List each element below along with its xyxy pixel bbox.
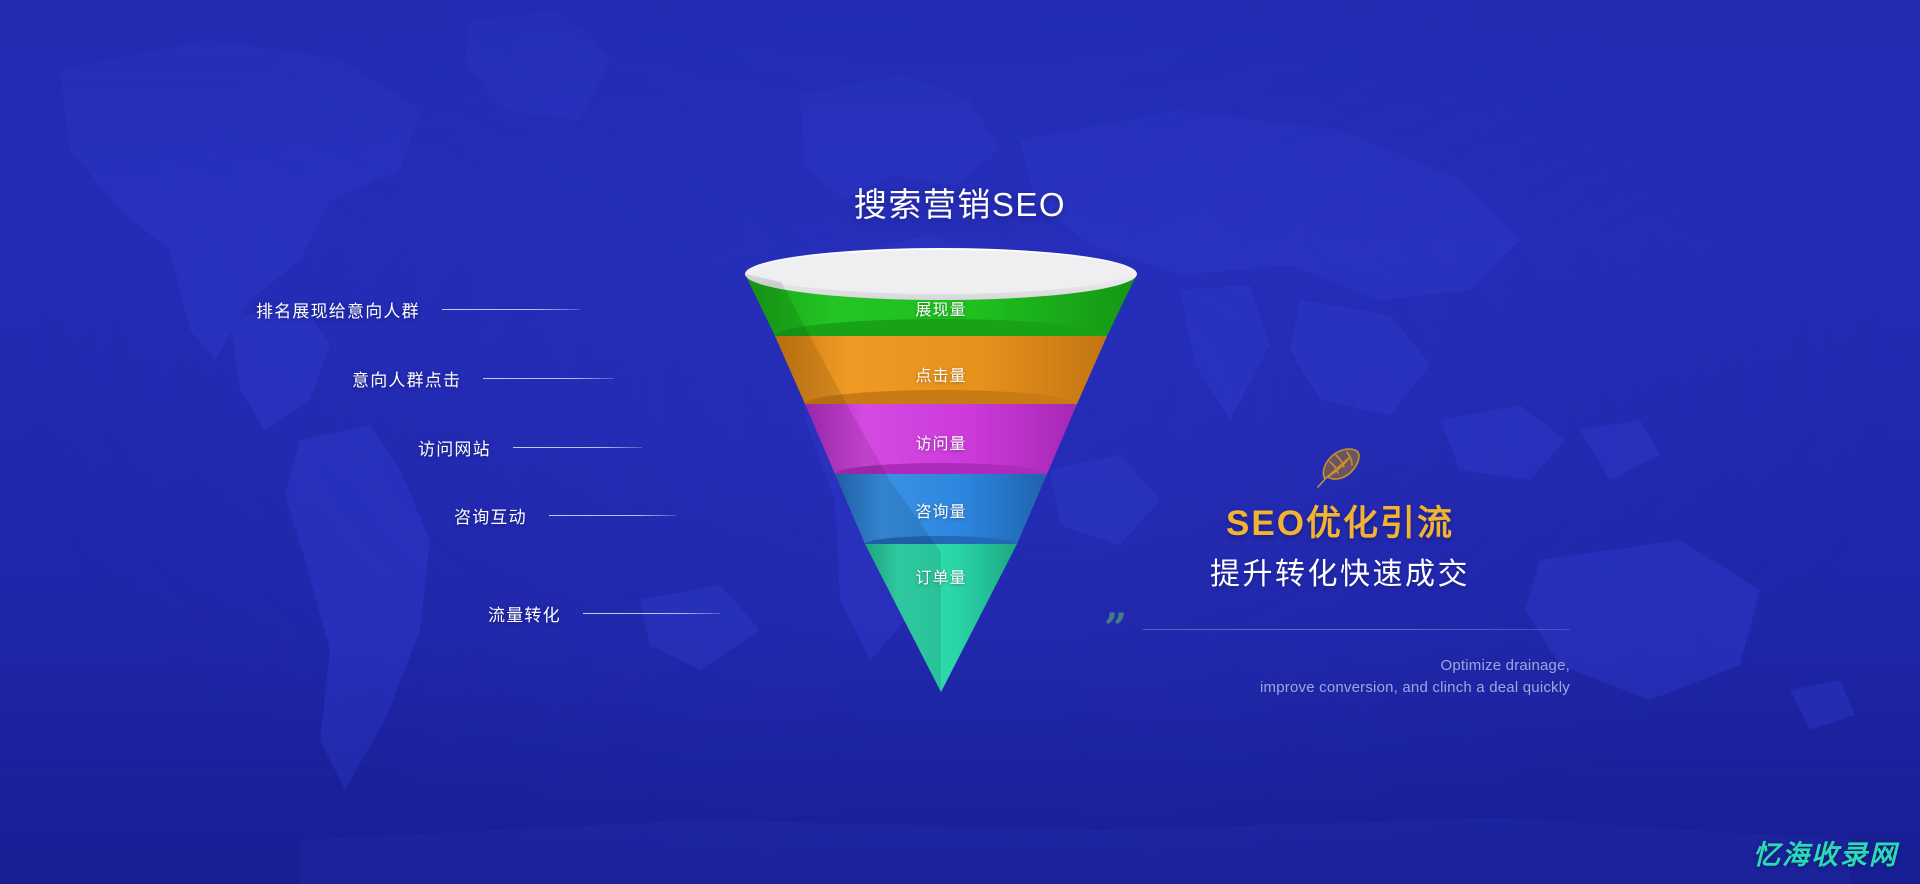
leader-line-1 <box>442 309 580 310</box>
promo-block: SEO优化引流 提升转化快速成交 ” Optimize drainage, im… <box>1110 446 1570 699</box>
promo-english-text: Optimize drainage, improve conversion, a… <box>1110 655 1570 699</box>
quote-divider-row: ” <box>1110 619 1570 639</box>
leader-line-3 <box>513 447 642 448</box>
promo-english-line-2: improve conversion, and clinch a deal qu… <box>1110 677 1570 699</box>
leader-line-4 <box>549 515 676 516</box>
page-title: 搜索营销SEO <box>0 178 1920 226</box>
banner-stage: 搜索营销SEO 排名展现给意向人群 意向人群点击 访问网站 咨询互动 流量转化 <box>0 0 1920 884</box>
promo-english-line-1: Optimize drainage, <box>1110 655 1570 677</box>
stage-label-row-3: 访问网站 <box>418 436 642 458</box>
funnel-rim <box>745 248 1137 300</box>
quote-mark-icon: ” <box>1104 618 1125 640</box>
leader-line-5 <box>583 613 720 614</box>
stage-label-text-1: 排名展现给意向人群 <box>256 297 420 322</box>
leader-line-2 <box>483 378 614 379</box>
stage-label-text-2: 意向人群点击 <box>352 366 461 391</box>
stage-label-row-5: 流量转化 <box>488 602 720 624</box>
seo-funnel-chart: 展现量 点击量 访问量 咨询量 订单量 <box>741 252 1141 702</box>
stage-label-row-4: 咨询互动 <box>454 504 676 526</box>
stage-label-text-5: 流量转化 <box>488 601 561 626</box>
site-watermark: 忆海收录网 <box>1753 833 1898 872</box>
stage-label-row-1: 排名展现给意向人群 <box>256 298 580 320</box>
stage-label-text-3: 访问网站 <box>418 435 491 460</box>
stage-label-text-4: 咨询互动 <box>454 503 527 528</box>
feather-icon <box>1316 446 1364 490</box>
stage-label-row-2: 意向人群点击 <box>352 367 614 389</box>
divider-line <box>1143 629 1570 630</box>
promo-headline: SEO优化引流 <box>1110 504 1570 544</box>
promo-subheadline: 提升转化快速成交 <box>1110 557 1570 593</box>
